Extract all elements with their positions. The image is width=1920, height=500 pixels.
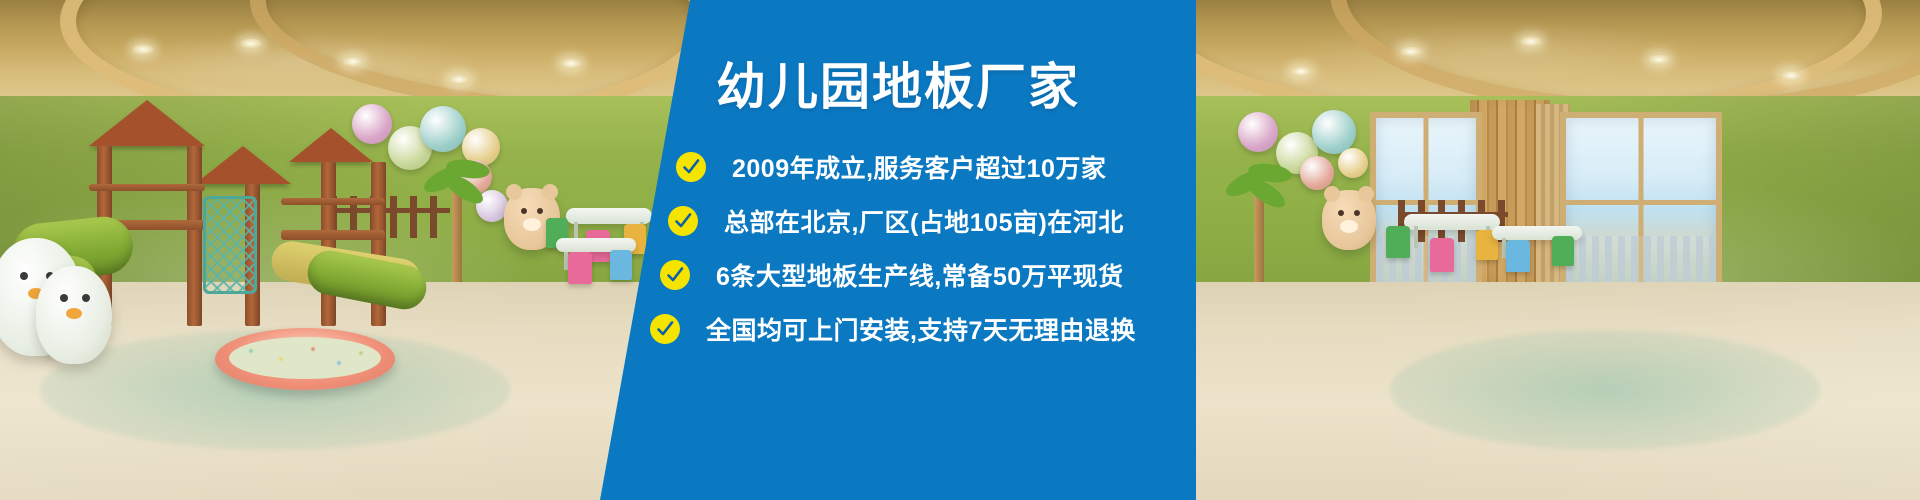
kids-table — [1404, 214, 1500, 230]
bear-ear — [542, 184, 558, 200]
ceiling-downlight — [342, 56, 364, 67]
playhouse-roof — [89, 100, 205, 146]
wall-decor-ball — [1338, 148, 1368, 178]
wall-decor-ball — [420, 106, 466, 152]
page-title: 幼儿园地板厂家 — [600, 62, 1196, 112]
plush-eye — [82, 294, 90, 302]
plush-duck — [36, 266, 112, 364]
list-item: 2009年成立,服务客户超过10万家 — [676, 140, 1198, 194]
playhouse-railing — [89, 184, 205, 191]
list-item-label: 6条大型地板生产线,常备50万平现货 — [716, 257, 1124, 293]
kids-chair — [1430, 238, 1454, 272]
wall-decor-ball — [1300, 156, 1334, 190]
playground-structure — [75, 100, 405, 330]
kids-chair — [568, 252, 592, 284]
promo-banner: 幼儿园地板厂家 2009年成立,服务客户超过10万家 总部在北京,厂区(占地10… — [0, 0, 1920, 500]
list-item: 全国均可上门安装,支持7天无理由退换 — [650, 302, 1198, 356]
ball-pit — [215, 328, 395, 390]
wall-decor-ball — [1238, 112, 1278, 152]
ceiling-downlight — [1648, 54, 1670, 65]
plush-eye — [60, 294, 68, 302]
ceiling-downlight — [448, 74, 470, 85]
bear-snout — [1340, 220, 1358, 233]
bear-eye — [1354, 210, 1360, 216]
check-circle-icon — [660, 260, 690, 290]
ceiling-downlight — [1780, 70, 1802, 81]
bear-snout — [523, 218, 541, 231]
bear-eye — [537, 208, 543, 214]
kids-chair — [1386, 226, 1410, 258]
window-cityscape — [1566, 236, 1716, 282]
bear-ear — [1324, 186, 1340, 202]
palm-tree-decor — [1228, 160, 1288, 290]
climbing-net — [203, 196, 257, 294]
playhouse-deck — [281, 230, 385, 240]
ceiling-downlight — [1290, 66, 1312, 77]
plush-eye — [20, 272, 28, 280]
plush-beak — [66, 308, 82, 319]
playhouse-railing — [281, 198, 385, 205]
check-circle-icon — [668, 206, 698, 236]
panel-content: 幼儿园地板厂家 2009年成立,服务客户超过10万家 总部在北京,厂区(占地10… — [600, 0, 1196, 500]
check-circle-icon — [650, 314, 680, 344]
ceiling-downlight — [560, 58, 582, 69]
kids-chair — [1506, 240, 1530, 272]
list-item-label: 总部在北京,厂区(占地105亩)在河北 — [724, 203, 1124, 239]
bear-eye — [1338, 210, 1344, 216]
bear-ear — [1358, 186, 1374, 202]
ceiling-downlight — [240, 38, 262, 49]
check-circle-icon — [676, 152, 706, 182]
playhouse-post — [187, 146, 202, 326]
list-item-label: 2009年成立,服务客户超过10万家 — [732, 149, 1106, 185]
feature-list: 2009年成立,服务客户超过10万家 总部在北京,厂区(占地105亩)在河北 6… — [658, 140, 1198, 356]
list-item-label: 全国均可上门安装,支持7天无理由退换 — [706, 311, 1136, 347]
ceiling-downlight — [132, 44, 154, 55]
playhouse-post — [321, 162, 336, 326]
playhouse-roof — [195, 146, 291, 184]
playhouse-roof — [289, 128, 373, 162]
ceiling-downlight — [1520, 36, 1542, 47]
ceiling-downlight — [1400, 46, 1422, 57]
kids-chair — [1552, 236, 1574, 266]
list-item: 6条大型地板生产线,常备50万平现货 — [660, 248, 1198, 302]
list-item: 总部在北京,厂区(占地105亩)在河北 — [668, 194, 1198, 248]
bear-eye — [521, 208, 527, 214]
window — [1560, 112, 1722, 302]
bear-ear — [506, 184, 522, 200]
plush-bear — [1322, 190, 1376, 250]
ball-pit-balls — [229, 337, 381, 379]
